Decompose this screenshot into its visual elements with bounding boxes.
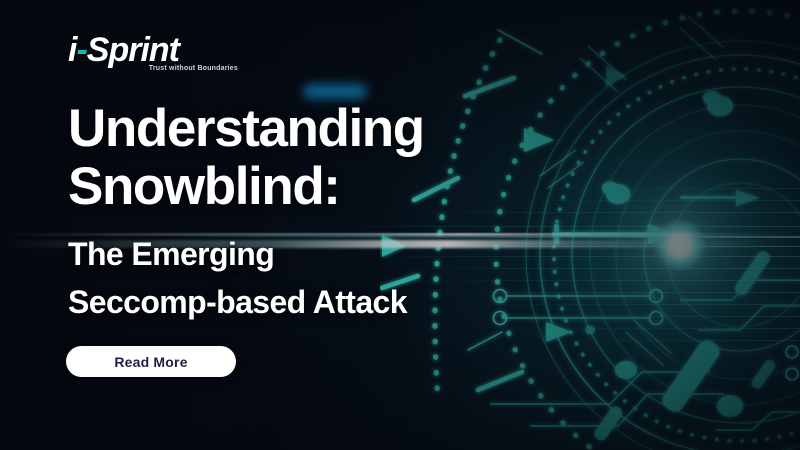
page-title: Understanding Snowblind: — [68, 100, 568, 216]
promo-banner: i-Sprint Trust without Boundaries Unders… — [0, 0, 800, 450]
read-more-button[interactable]: Read More — [66, 346, 236, 377]
i-sprint-logo[interactable]: i-Sprint Trust without Boundaries — [68, 32, 238, 80]
logo-wordmark: i-Sprint — [68, 32, 238, 68]
headline-block: Understanding Snowblind: The Emerging Se… — [68, 100, 568, 326]
logo-tagline: Trust without Boundaries — [149, 65, 238, 72]
logo-word-sprint: Sprint — [87, 31, 179, 69]
logo-dash-accent: - — [76, 31, 86, 69]
page-subtitle: The Emerging Seccomp-based Attack — [68, 230, 568, 326]
blue-accent-streak — [303, 84, 367, 99]
